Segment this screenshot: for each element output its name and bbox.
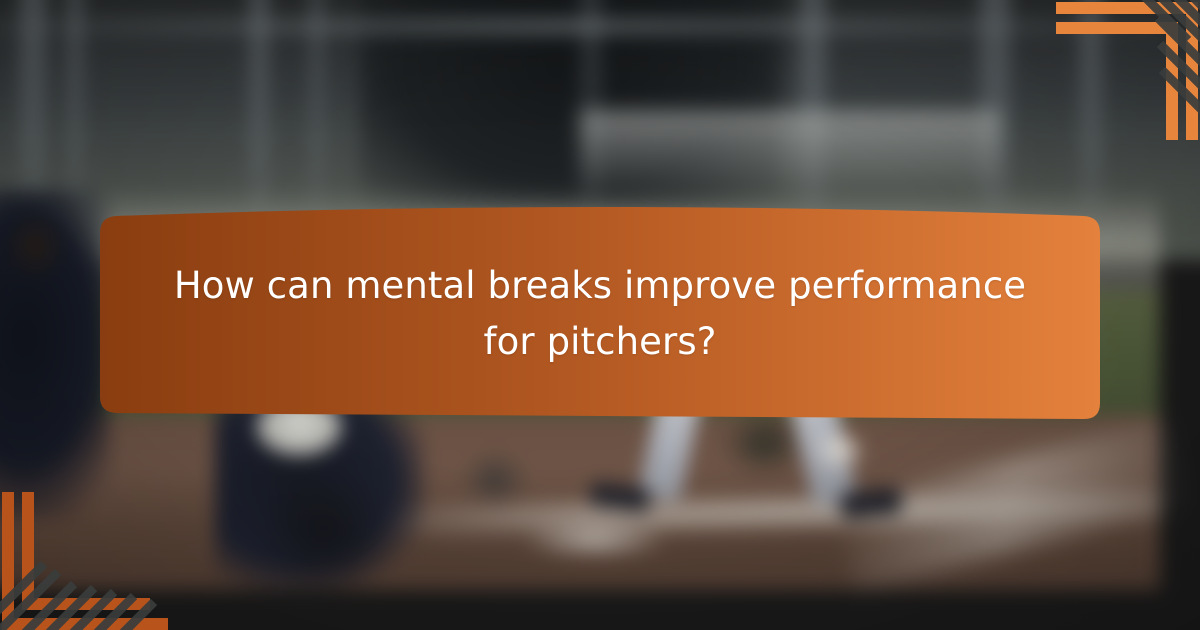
catcher-mitt (460, 450, 530, 510)
fence-post (1080, 0, 1102, 210)
dugout-structure (580, 110, 1000, 190)
fence-post (250, 0, 268, 210)
headline-card: How can mental breaks improve performanc… (100, 207, 1100, 421)
catcher-shadow (260, 470, 390, 590)
home-plate (520, 520, 670, 560)
fence-post (312, 0, 322, 210)
fence-post (68, 0, 82, 210)
umpire-head (8, 215, 62, 277)
social-card-image: How can mental breaks improve performanc… (0, 0, 1200, 630)
headline-text: How can mental breaks improve performanc… (100, 207, 1100, 421)
fence-post (20, 0, 46, 210)
baseball (820, 435, 862, 469)
